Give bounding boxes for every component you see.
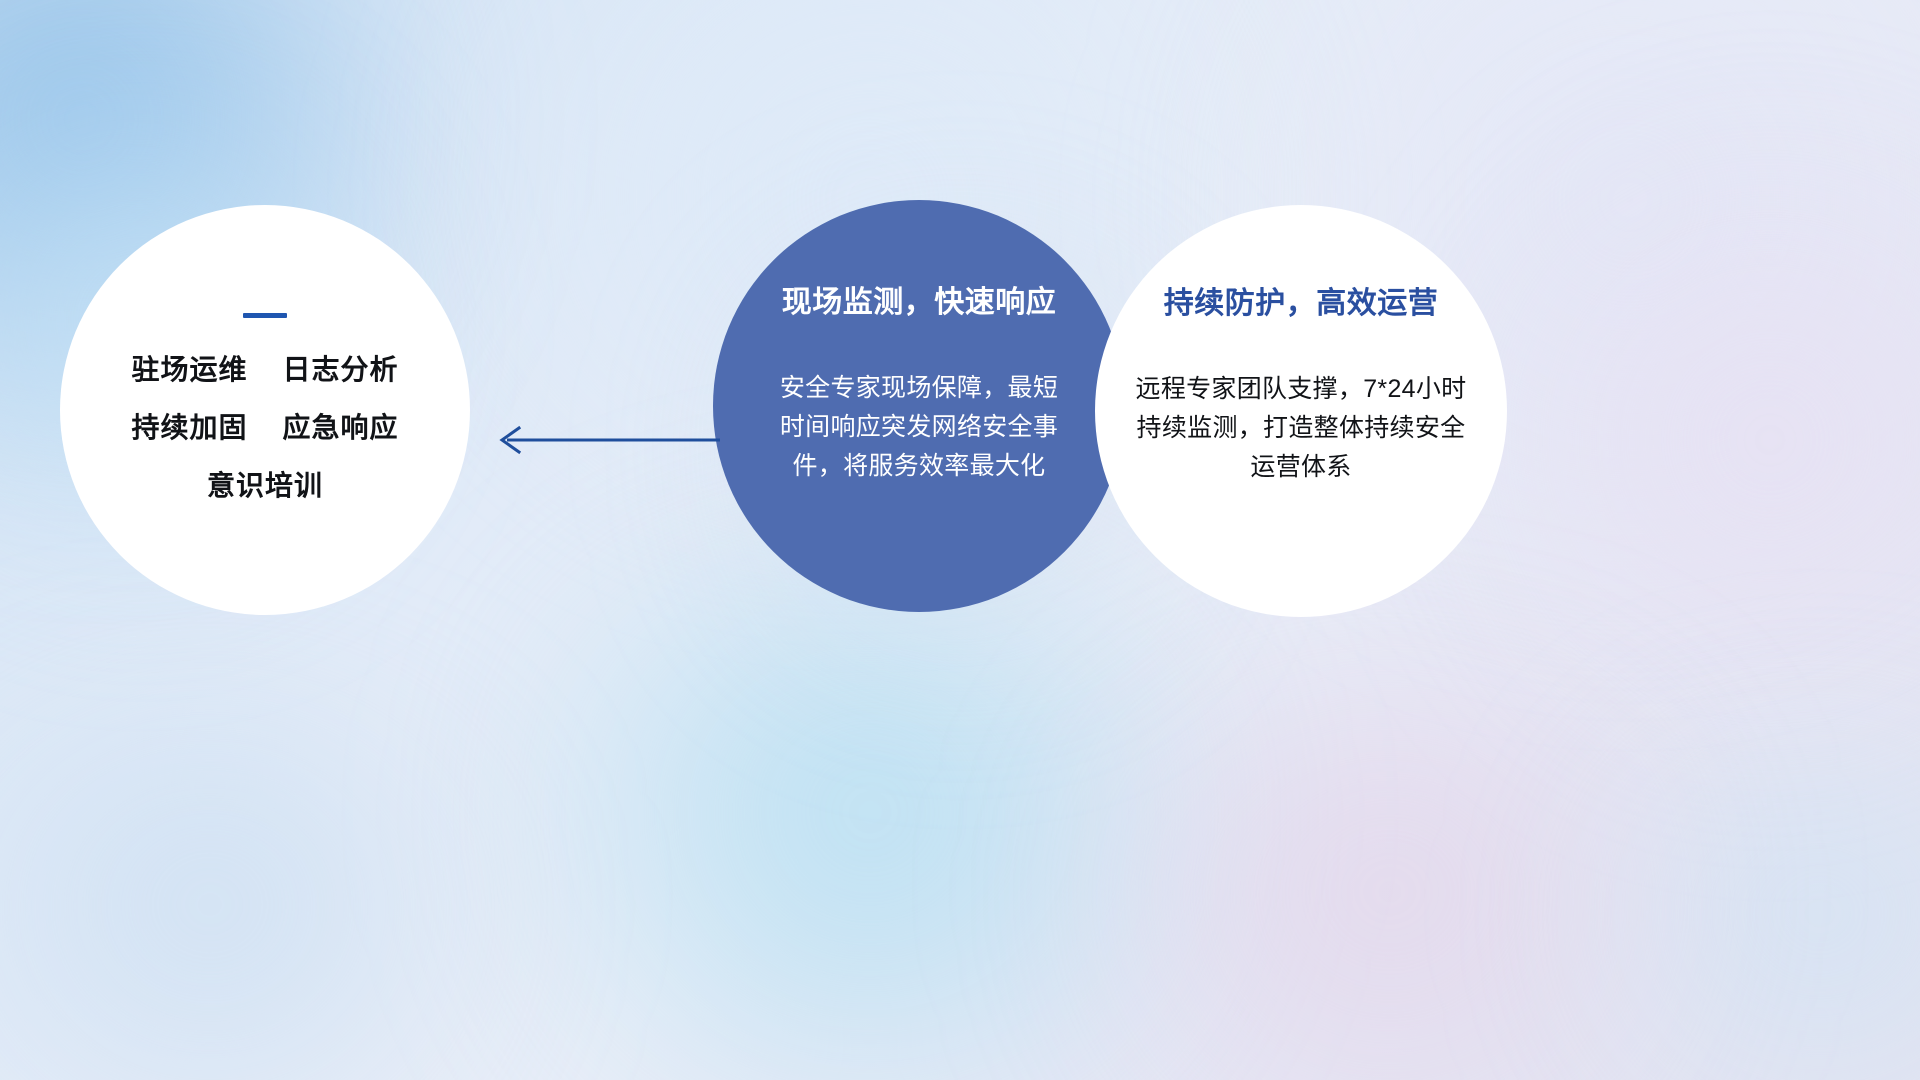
middle-circle-body: 安全专家现场保障，最短时间响应突发网络安全事件，将服务效率最大化 xyxy=(769,369,1069,485)
middle-circle-content: 现场监测，快速响应 安全专家现场保障，最短时间响应突发网络安全事件，将服务效率最… xyxy=(713,200,1125,612)
right-circle-title: 持续防护，高效运营 xyxy=(1164,287,1439,320)
capability-list: 驻场运维 日志分析 持续加固 应急响应 意识培训 xyxy=(131,356,398,500)
right-circle-body: 远程专家团队支撑，7*24小时持续监测，打造整体持续安全运营体系 xyxy=(1131,370,1471,486)
divider-dash xyxy=(243,313,287,318)
slide-canvas: 驻场运维 日志分析 持续加固 应急响应 意识培训 现场监测，快速响应 安全专家现… xyxy=(0,0,1920,1080)
capability-line-2: 持续加固 应急响应 xyxy=(131,414,398,442)
flow-arrow xyxy=(485,418,720,462)
right-circle-content: 持续防护，高效运营 远程专家团队支撑，7*24小时持续监测，打造整体持续安全运营… xyxy=(1095,205,1507,617)
middle-circle-title: 现场监测，快速响应 xyxy=(782,286,1057,319)
capability-line-1: 驻场运维 日志分析 xyxy=(131,356,398,384)
left-circle-content: 驻场运维 日志分析 持续加固 应急响应 意识培训 xyxy=(60,205,470,615)
left-arrow-icon xyxy=(485,418,720,462)
capability-line-3: 意识培训 xyxy=(131,472,398,500)
